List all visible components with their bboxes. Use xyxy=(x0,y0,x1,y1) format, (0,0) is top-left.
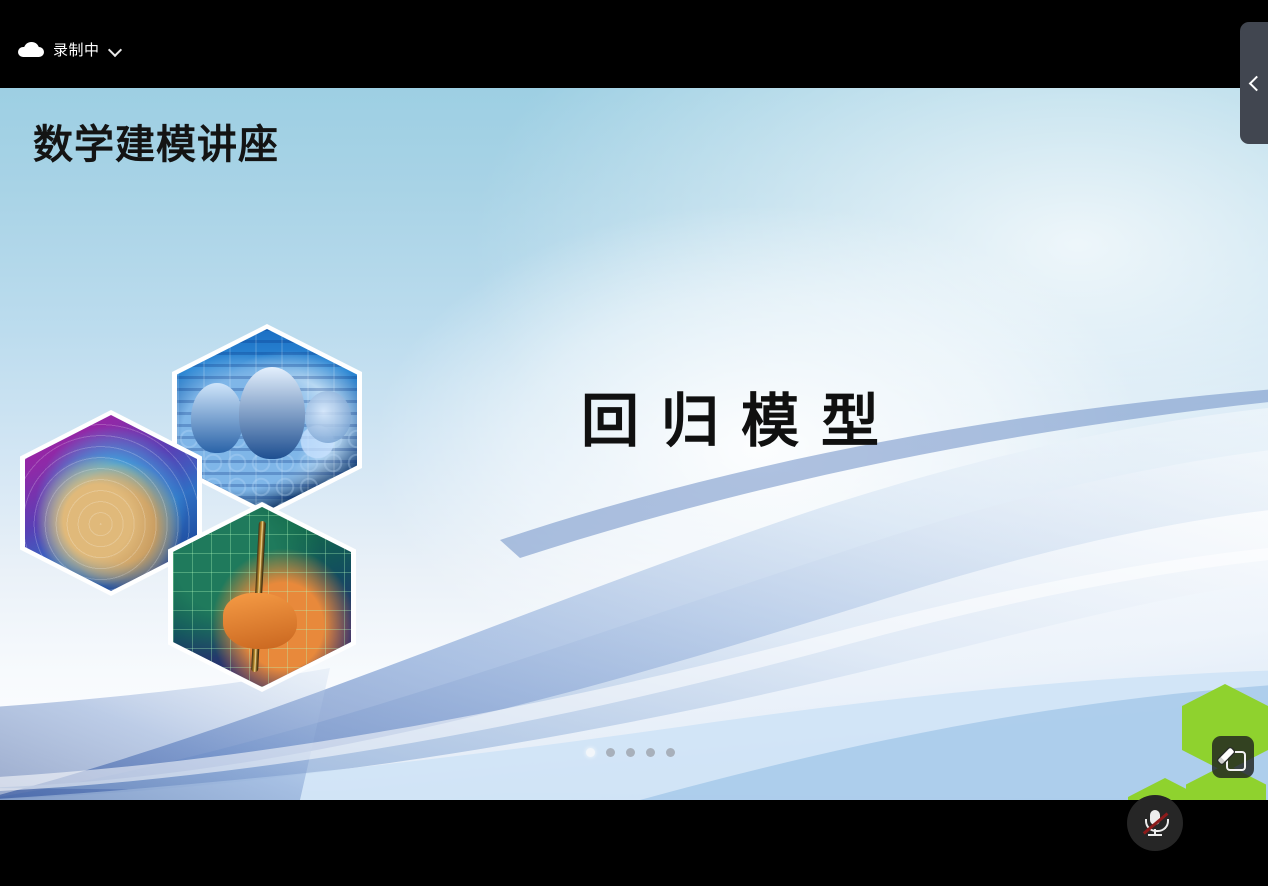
panel-collapse-tab[interactable] xyxy=(1240,22,1268,144)
slide-heading: 回归模型 xyxy=(540,374,920,458)
pager-dot-1[interactable] xyxy=(586,748,595,757)
chevron-down-icon[interactable] xyxy=(109,43,122,56)
pager-dot-3[interactable] xyxy=(626,748,635,757)
microphone-muted-icon xyxy=(1142,809,1168,837)
bottom-bar xyxy=(0,800,1268,886)
slide-pager[interactable] xyxy=(586,748,675,757)
slide-canvas[interactable]: 数学建模讲座 回归模型 xyxy=(0,88,1268,800)
recording-label: 录制中 xyxy=(53,39,100,60)
annotate-button[interactable] xyxy=(1212,736,1254,778)
pager-dot-2[interactable] xyxy=(606,748,615,757)
hex-photo-writing xyxy=(168,502,356,692)
pager-dot-5[interactable] xyxy=(666,748,675,757)
screen-root: 录制中 xyxy=(0,0,1268,886)
cloud-icon xyxy=(18,42,44,57)
microphone-button[interactable] xyxy=(1127,795,1183,851)
page-title: 数学建模讲座 xyxy=(33,112,279,170)
top-recording-bar: 录制中 xyxy=(0,0,1268,88)
chevron-left-icon xyxy=(1246,75,1262,91)
pencil-edit-icon xyxy=(1221,745,1245,769)
pager-dot-4[interactable] xyxy=(646,748,655,757)
recording-status-button[interactable]: 录制中 xyxy=(18,36,122,62)
